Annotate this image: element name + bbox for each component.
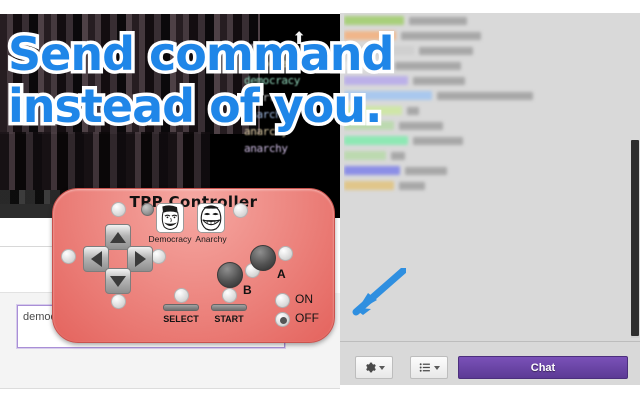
chat-panel-top	[340, 0, 640, 13]
decorative-dot	[222, 288, 237, 303]
a-button-label: A	[277, 267, 286, 281]
chat-message-row	[344, 148, 634, 163]
screenshot-root: ⬆ anarchy democracy democracy start anar…	[0, 0, 640, 400]
power-on-label: ON	[295, 292, 313, 306]
yao-ming-face-icon	[157, 204, 183, 232]
divider	[0, 388, 340, 389]
chat-message-author	[344, 136, 408, 145]
chat-send-button[interactable]: Chat	[458, 356, 628, 379]
b-button[interactable]	[217, 262, 243, 288]
dpad-up-icon	[110, 232, 126, 243]
dpad-left-button[interactable]	[83, 246, 109, 272]
stream-top-chrome	[0, 0, 340, 14]
chat-message-author	[344, 151, 386, 160]
chat-settings-button[interactable]	[355, 356, 393, 379]
dpad-down-icon	[110, 276, 126, 287]
gear-icon	[364, 361, 377, 374]
chevron-down-icon	[379, 366, 385, 370]
headline-line-2: instead of you.	[8, 80, 508, 132]
decorative-dot	[111, 294, 126, 309]
chat-message-row	[344, 178, 634, 193]
decorative-dot	[278, 246, 293, 261]
chat-scrollbar-thumb[interactable]	[631, 140, 639, 336]
dpad-right-button[interactable]	[127, 246, 153, 272]
chevron-down-icon	[434, 366, 440, 370]
chat-message-row	[344, 13, 634, 28]
power-off-radio[interactable]	[275, 312, 290, 327]
list-icon	[418, 361, 432, 374]
stream-command: anarchy	[244, 140, 336, 157]
democracy-button[interactable]	[156, 203, 184, 233]
select-button[interactable]	[163, 304, 199, 311]
trollface-icon	[198, 204, 224, 232]
anarchy-label: Anarchy	[184, 234, 238, 244]
a-button[interactable]	[250, 245, 276, 271]
chat-message-text	[405, 167, 447, 175]
anarchy-button[interactable]	[197, 203, 225, 233]
dpad-down-button[interactable]	[105, 268, 131, 294]
chat-message-author	[344, 16, 404, 25]
headline-line-1: Send command	[8, 28, 508, 80]
tpp-controller: TPP Controller	[52, 188, 335, 343]
start-button-label: START	[204, 314, 254, 324]
select-button-label: SELECT	[156, 314, 206, 324]
dpad-right-icon	[135, 251, 146, 267]
chat-panel-bottom	[340, 385, 640, 400]
decorative-dot	[141, 203, 154, 216]
chat-list-button[interactable]	[410, 356, 448, 379]
chat-message-author	[344, 166, 400, 175]
power-off-label: OFF	[295, 311, 319, 325]
chat-message-text	[391, 152, 405, 160]
decorative-dot	[174, 288, 189, 303]
headline-overlay: Send command instead of you.	[8, 28, 508, 132]
b-button-label: B	[243, 283, 252, 297]
chat-message-row	[344, 133, 634, 148]
decorative-dot	[111, 202, 126, 217]
start-button[interactable]	[211, 304, 247, 311]
controller-title: TPP Controller	[53, 193, 334, 211]
chat-message-row	[344, 163, 634, 178]
game-video-noise-lower	[0, 132, 210, 190]
chat-send-label: Chat	[531, 362, 555, 374]
dpad-left-icon	[91, 251, 102, 267]
decorative-dot	[61, 249, 76, 264]
chat-message-author	[344, 181, 394, 190]
chat-message-text	[409, 17, 467, 25]
chat-message-text	[399, 182, 425, 190]
decorative-dot	[151, 249, 166, 264]
chat-message-text	[413, 137, 463, 145]
divider	[340, 341, 640, 342]
dpad-up-button[interactable]	[105, 224, 131, 250]
power-on-radio[interactable]	[275, 293, 290, 308]
decorative-dot	[233, 203, 248, 218]
